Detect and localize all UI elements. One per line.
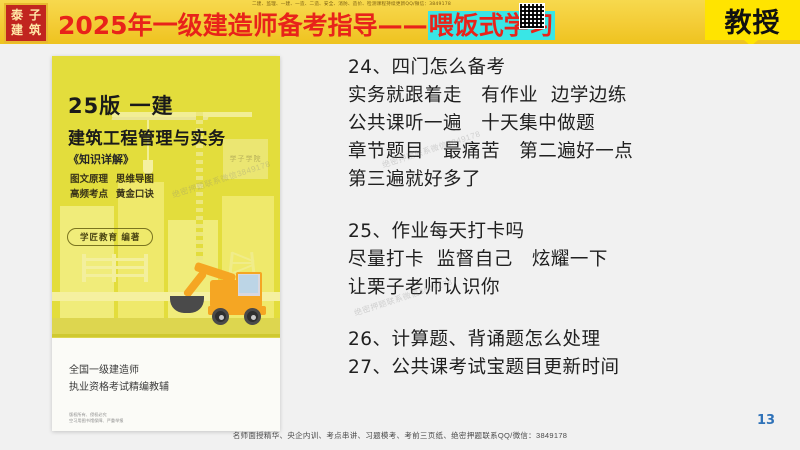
page-title: 2025年一级建造师备考指导——喂饭式学习 — [58, 6, 555, 42]
content-spacer — [348, 194, 778, 218]
content-line: 尽量打卡 监督自己 炫耀一下 — [348, 246, 778, 274]
content-text-area: 24、四门怎么备考 实务就跟着走 有作业 边学边练 公共课听一遍 十天集中做题 … — [348, 54, 778, 382]
scaffold-post-left — [82, 254, 86, 282]
header-microtext: 二建、监理、一建、一造、二造、安全、消防、造价、检测课程持续更新QQ/微信：38… — [252, 1, 451, 7]
book-title-line1: 25版 一建 — [68, 90, 174, 120]
book-features: 图文原理 思维导图 高频考点 黄金口诀 — [70, 172, 154, 202]
excavator-stick — [183, 270, 208, 299]
content-line: 26、计算题、背诵题怎么处理 — [348, 326, 778, 354]
content-line: 公共课听一遍 十天集中做题 — [348, 110, 778, 138]
content-line: 24、四门怎么备考 — [348, 54, 778, 82]
book-cover-image: 25版 一建 建筑工程管理与实务 《知识详解》 图文原理 思维导图 高频考点 黄… — [52, 56, 280, 431]
scaffold-post-right — [144, 254, 148, 282]
content-line: 第三遍就好多了 — [348, 166, 778, 194]
excavator-wheel-front — [244, 308, 261, 325]
book-subtitle: 《知识详解》 — [68, 151, 134, 167]
excavator-wheel-rear — [212, 308, 229, 325]
content-line: 让栗子老师认识你 — [348, 274, 778, 302]
scaffold-post-mid — [112, 254, 116, 282]
content-spacer — [348, 302, 778, 326]
content-line: 27、公共课考试宝题目更新时间 — [348, 354, 778, 382]
footer-contact-text: 名师面授精华、央企内训、考点串讲、习题模考、考前三页纸、绝密押题联系QQ/微信：… — [0, 430, 800, 441]
content-line: 实务就跟着走 有作业 边学边练 — [348, 82, 778, 110]
brand-seal-logo: 泰 子 建 筑 — [4, 3, 48, 43]
qr-code-icon[interactable] — [519, 3, 545, 29]
content-line: 25、作业每天打卡吗 — [348, 218, 778, 246]
excavator-illustration — [162, 266, 274, 328]
slide-body: 25版 一建 建筑工程管理与实务 《知识详解》 图文原理 思维导图 高频考点 黄… — [0, 44, 800, 450]
seal-char-1: 泰 — [9, 8, 26, 23]
book-fineprint: 版权所有、侵权必究 空习用图书馆保障、严重举报 — [69, 412, 123, 424]
excavator-cab-glass — [239, 275, 258, 293]
book-footer-text: 全国一级建造师 执业资格考试精编教辅 — [69, 362, 169, 396]
content-block-1: 24、四门怎么备考 实务就跟着走 有作业 边学边练 公共课听一遍 十天集中做题 … — [348, 54, 778, 194]
book-title-line2: 建筑工程管理与实务 — [68, 124, 226, 149]
seal-char-2: 子 — [27, 8, 44, 23]
book-author-badge: 学匠教育 编著 — [67, 228, 153, 246]
professor-badge-label: 教授 — [725, 1, 781, 40]
book-watermark-box: 学子学院 — [223, 139, 268, 179]
header-bar: 泰 子 建 筑 2025年一级建造师备考指导——喂饭式学习 二建、监理、一建、一… — [0, 0, 800, 44]
content-block-3: 26、计算题、背诵题怎么处理 27、公共课考试宝题目更新时间 — [348, 326, 778, 382]
qr-code-pattern — [520, 4, 544, 28]
book-cover-divider — [52, 334, 280, 337]
page-title-main: 2025年一级建造师备考指导—— — [58, 11, 428, 40]
professor-badge: 教授 — [705, 0, 800, 40]
content-line: 章节题目 最痛苦 第二遍好一点 — [348, 138, 778, 166]
content-block-2: 25、作业每天打卡吗 尽量打卡 监督自己 炫耀一下 让栗子老师认识你 — [348, 218, 778, 302]
seal-char-4: 筑 — [27, 23, 44, 38]
page-number: 13 — [757, 413, 775, 428]
excavator-bucket — [170, 296, 204, 313]
seal-char-3: 建 — [9, 23, 26, 38]
